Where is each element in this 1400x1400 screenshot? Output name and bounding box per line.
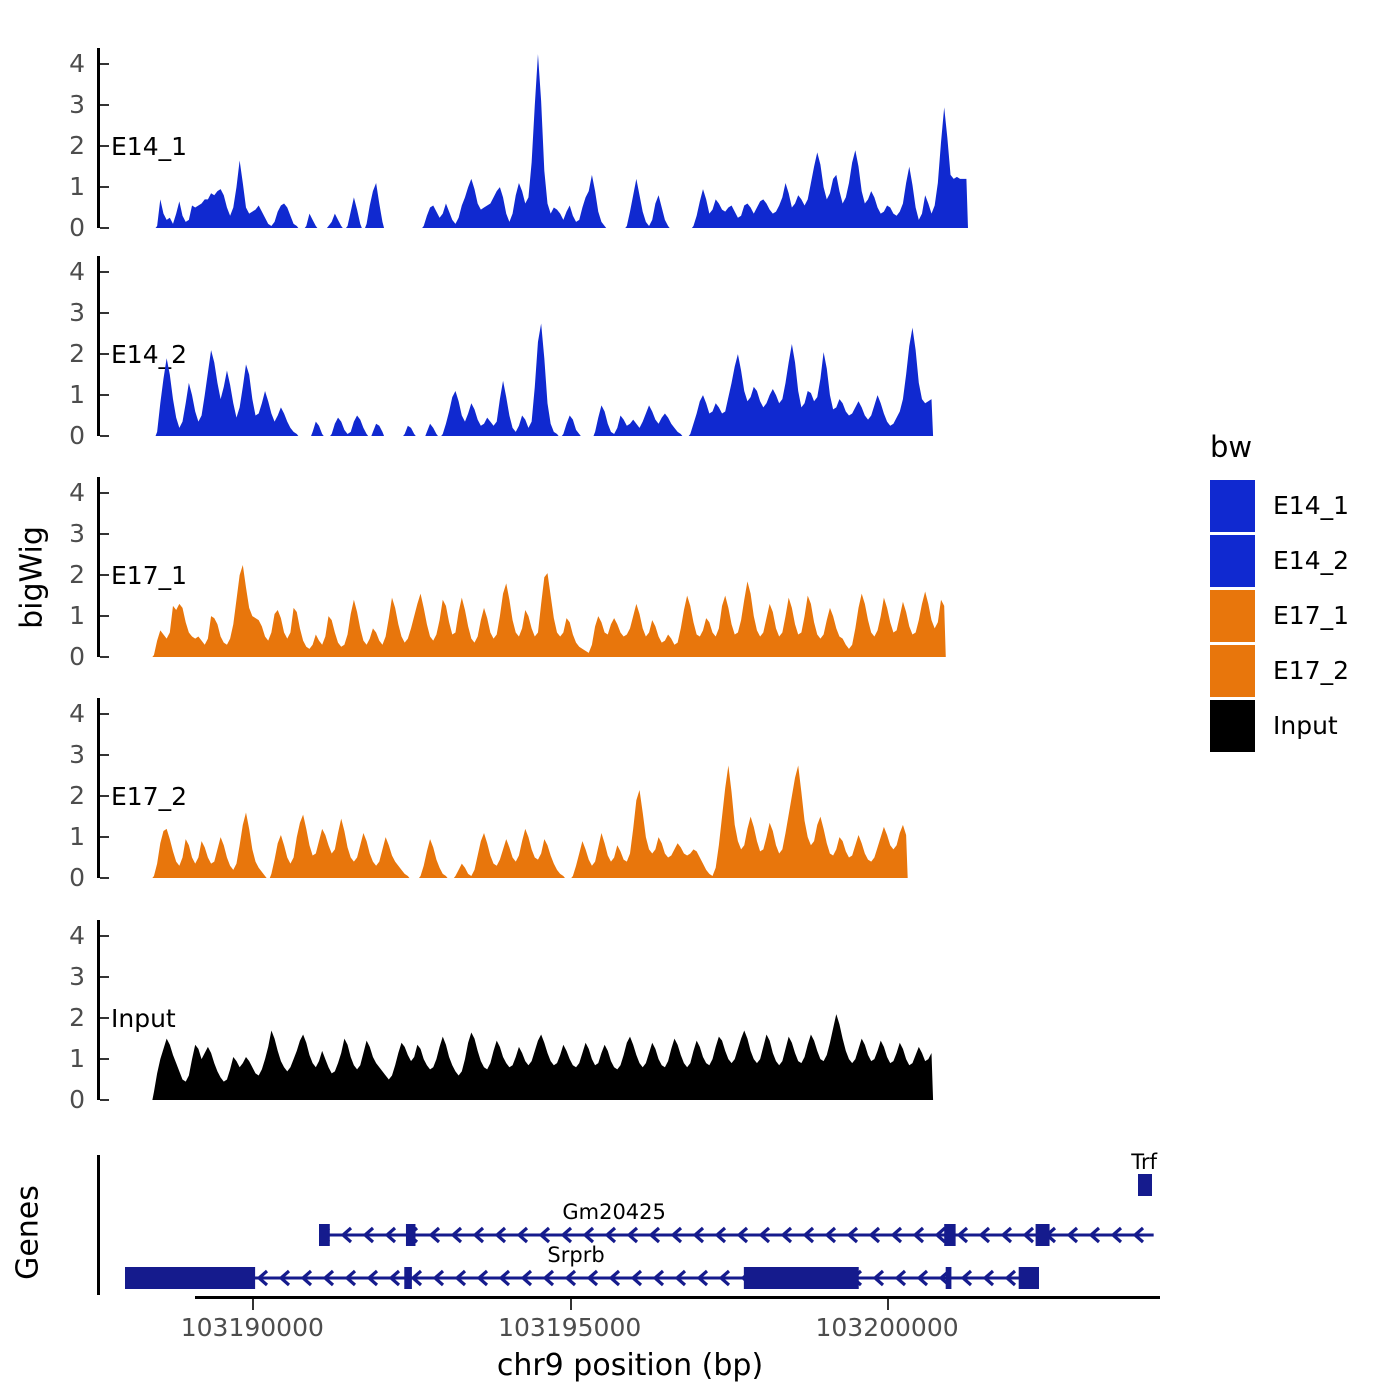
y-tick-label: 4 [45, 480, 85, 505]
legend-item-e17_1[interactable]: E17_1 [1210, 588, 1349, 643]
legend-label: E17_1 [1273, 601, 1349, 630]
gene-label-gm20425: Gm20425 [562, 1200, 666, 1224]
legend-label: E14_1 [1273, 491, 1349, 520]
y-tick-label: 3 [45, 742, 85, 767]
y-tick-label: 1 [45, 824, 85, 849]
genes-axis-title: Genes [11, 1153, 46, 1313]
y-tick-label: 0 [45, 1087, 85, 1112]
y-tick-label: 1 [45, 603, 85, 628]
legend-label: Input [1273, 711, 1338, 740]
gene-trf[interactable] [1138, 1174, 1153, 1196]
x-tick-label: 103195000 [498, 1313, 641, 1342]
legend-label: E14_2 [1273, 546, 1349, 575]
legend-item-e14_2[interactable]: E14_2 [1210, 533, 1349, 588]
legend-item-list: E14_1E14_2E17_1E17_2Input [1210, 478, 1349, 753]
track-panel-e14_1: 01234E14_1 [0, 48, 1160, 228]
legend-item-e14_1[interactable]: E14_1 [1210, 478, 1349, 533]
y-tick-label: 3 [45, 300, 85, 325]
legend-item-input[interactable]: Input [1210, 698, 1349, 753]
y-tick-label: 0 [45, 644, 85, 669]
y-tick-label: 0 [45, 423, 85, 448]
y-tick-label: 1 [45, 1046, 85, 1071]
coverage-area-e14_1 [100, 48, 1160, 228]
x-tick-label: 103200000 [815, 1313, 958, 1342]
y-tick-label: 1 [45, 382, 85, 407]
coverage-area-e14_2 [100, 256, 1160, 436]
legend-title: bw [1210, 430, 1349, 464]
genome-browser-figure: bigWig Genes 01234E14_101234E14_201234E1… [0, 0, 1400, 1400]
x-tick-label: 103190000 [181, 1313, 324, 1342]
legend-color-swatch [1210, 590, 1255, 642]
y-tick-label: 2 [45, 562, 85, 587]
gene-srprb[interactable] [125, 1267, 1039, 1289]
gene-gm20425[interactable] [319, 1224, 1154, 1246]
y-tick-label: 4 [45, 923, 85, 948]
y-tick-label: 1 [45, 174, 85, 199]
y-tick-label: 0 [45, 865, 85, 890]
legend-label: E17_2 [1273, 656, 1349, 685]
legend-color-swatch [1210, 535, 1255, 587]
legend-item-e17_2[interactable]: E17_2 [1210, 643, 1349, 698]
coverage-area-input [100, 920, 1160, 1100]
legend-color-swatch [1210, 700, 1255, 752]
y-tick-label: 3 [45, 964, 85, 989]
y-tick-label: 2 [45, 341, 85, 366]
gene-label-srprb: Srprb [547, 1243, 604, 1267]
track-panel-e17_2: 01234E17_2 [0, 698, 1160, 878]
y-tick-label: 4 [45, 51, 85, 76]
coverage-area-e17_2 [100, 698, 1160, 878]
legend-color-swatch [1210, 645, 1255, 697]
x-axis-title: chr9 position (bp) [497, 1348, 763, 1383]
x-tick [252, 1299, 254, 1310]
gene-label-trf: Trf [1131, 1150, 1157, 1174]
y-tick-label: 2 [45, 783, 85, 808]
y-tick-label: 4 [45, 259, 85, 284]
y-tick-label: 3 [45, 521, 85, 546]
y-tick-label: 4 [45, 701, 85, 726]
y-tick-label: 2 [45, 133, 85, 158]
x-tick [570, 1299, 572, 1310]
legend-color-swatch [1210, 480, 1255, 532]
track-panel-e14_2: 01234E14_2 [0, 256, 1160, 436]
genes-axis-line [97, 1155, 100, 1295]
track-panel-input: 01234Input [0, 920, 1160, 1100]
genes-baseline [195, 1296, 1160, 1299]
legend: bw E14_1E14_2E17_1E17_2Input [1210, 430, 1349, 753]
coverage-area-e17_1 [100, 477, 1160, 657]
y-tick-label: 0 [45, 215, 85, 240]
track-panel-e17_1: 01234E17_1 [0, 477, 1160, 657]
x-tick [887, 1299, 889, 1310]
y-tick-label: 2 [45, 1005, 85, 1030]
y-tick-label: 3 [45, 92, 85, 117]
